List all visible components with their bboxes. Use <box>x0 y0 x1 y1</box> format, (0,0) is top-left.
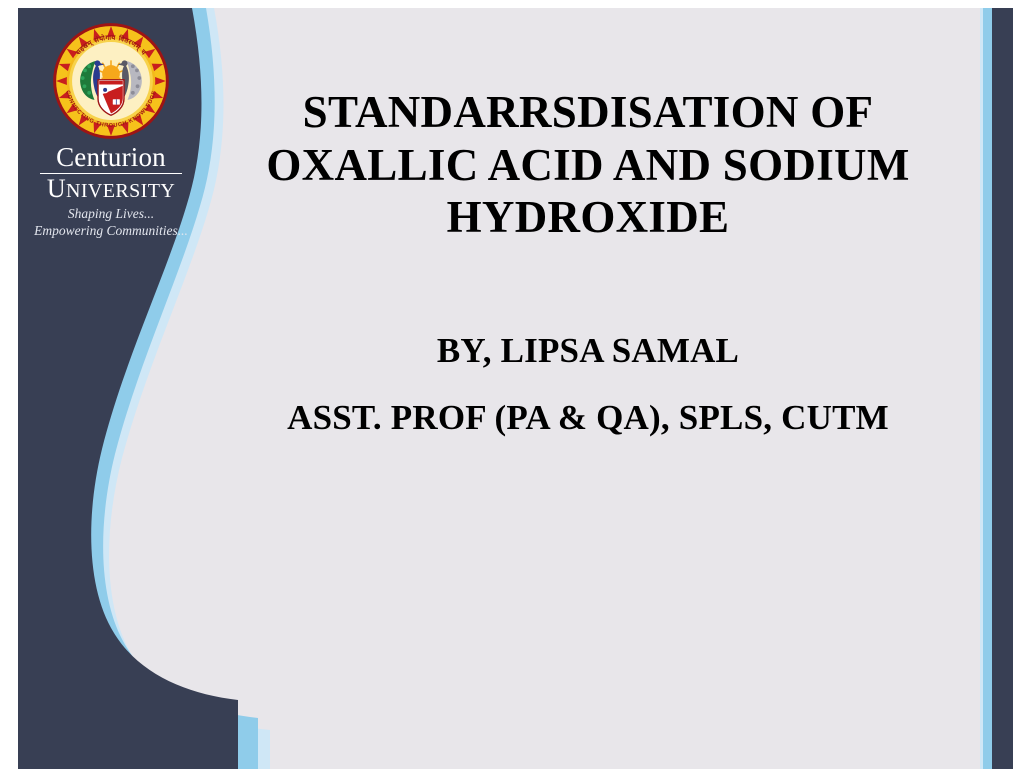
subtitle-author: BY, LIPSA SAMAL <box>198 333 978 368</box>
subtitle-designation: ASST. PROF (PA & QA), SPLS, CUTM <box>198 400 978 435</box>
slide: सहस्रम् संयोगाय वितरणम् च CONNECTING THR… <box>0 0 1024 769</box>
title-block: STANDARRSDISATION OF OXALLIC ACID AND SO… <box>208 86 968 244</box>
right-edge-accent-stripe <box>983 8 992 769</box>
wordmark-university-initial: U <box>47 174 66 203</box>
slide-canvas: सहस्रम् संयोगाय वितरणम् च CONNECTING THR… <box>18 8 1013 769</box>
wordmark-university-smallcaps: NIVERSITY <box>66 180 175 202</box>
centurion-university-crest-icon: सहस्रम् संयोगाय वितरणम् च CONNECTING THR… <box>52 22 170 140</box>
university-logo-lockup: सहस्रम् संयोगाय वितरणम् च CONNECTING THR… <box>32 22 190 239</box>
tagline-shaping-lives: Shaping Lives... <box>32 205 190 222</box>
subtitle-block: BY, LIPSA SAMAL ASST. PROF (PA & QA), SP… <box>198 333 978 435</box>
wordmark-university: UNIVERSITY <box>32 175 190 202</box>
tagline-empowering-communities: Empowering Communities... <box>32 222 190 239</box>
slide-title: STANDARRSDISATION OF OXALLIC ACID AND SO… <box>208 86 968 244</box>
wordmark-centurion: Centurion <box>40 144 182 174</box>
right-edge-navy-stripe <box>992 8 1013 769</box>
